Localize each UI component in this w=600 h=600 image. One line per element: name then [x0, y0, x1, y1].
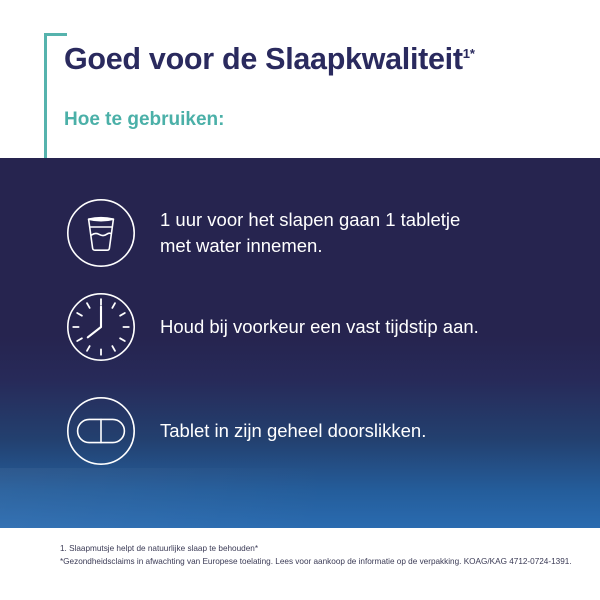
tablet-pill-icon — [64, 394, 138, 468]
water-glass-icon — [64, 196, 138, 270]
footer-section: 1. Slaapmutsje helpt de natuurlijke slaa… — [0, 528, 600, 600]
header-section: Goed voor de Slaapkwaliteit1* Hoe te geb… — [0, 0, 600, 158]
clock-icon — [64, 290, 138, 364]
instruction-step-1-text: 1 uur voor het slapen gaan 1 tabletje me… — [160, 207, 460, 260]
instruction-step-1: 1 uur voor het slapen gaan 1 tabletje me… — [64, 196, 460, 270]
page-subtitle: Hoe te gebruiken: — [64, 110, 224, 129]
page-title-text: Goed voor de Slaapkwaliteit — [64, 42, 463, 76]
page-title: Goed voor de Slaapkwaliteit1* — [64, 44, 475, 75]
footnote-line-2: *Gezondheidsclaims in afwachting van Eur… — [60, 556, 572, 569]
instruction-step-3-text: Tablet in zijn geheel doorslikken. — [160, 418, 426, 444]
instruction-step-2-text: Houd bij voorkeur een vast tijdstip aan. — [160, 314, 479, 340]
instruction-step-3: Tablet in zijn geheel doorslikken. — [64, 394, 426, 468]
instruction-step-2: Houd bij voorkeur een vast tijdstip aan. — [64, 290, 479, 364]
bracket-vertical-line-teal — [44, 33, 47, 158]
title-superscript: 1* — [463, 46, 475, 61]
promotional-poster: Goed voor de Slaapkwaliteit1* Hoe te geb… — [0, 0, 600, 600]
footnote-line-1: 1. Slaapmutsje helpt de natuurlijke slaa… — [60, 543, 258, 556]
bracket-top-stub — [44, 33, 67, 36]
